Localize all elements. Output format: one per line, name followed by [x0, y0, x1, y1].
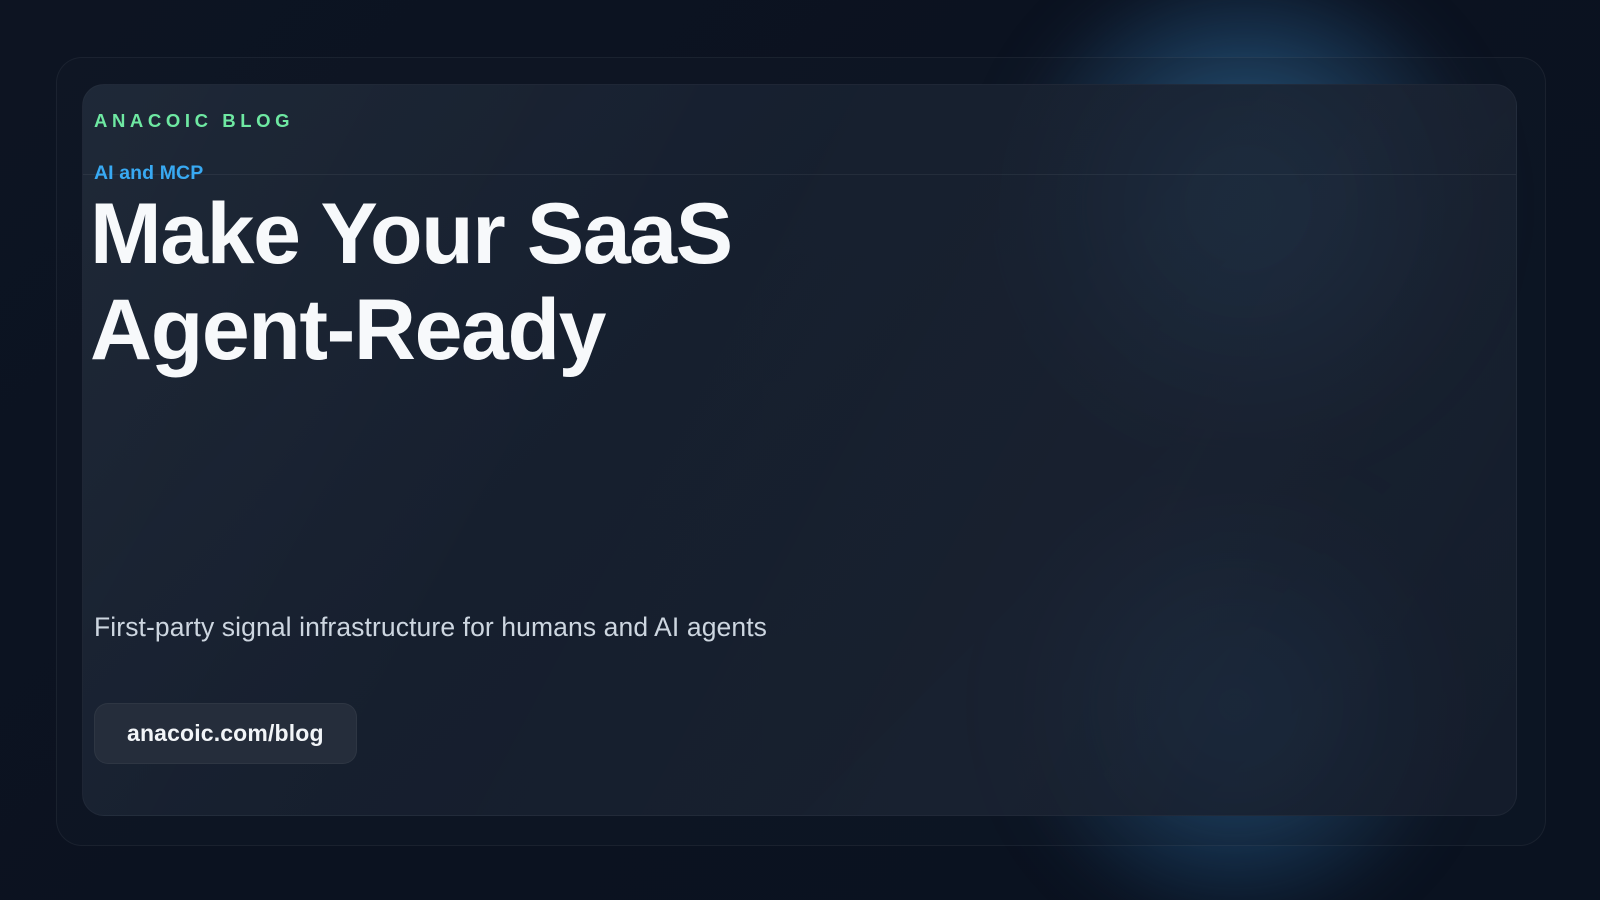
brand-eyebrow: ANACOIC BLOG — [94, 110, 294, 132]
blog-promo-card: ANACOIC BLOG AI and MCP Make Your SaaS A… — [82, 84, 1517, 816]
subtitle-text: First-party signal infrastructure for hu… — [94, 612, 767, 643]
card-content: ANACOIC BLOG AI and MCP Make Your SaaS A… — [94, 85, 1054, 815]
page-title: Make Your SaaS Agent-Ready — [90, 186, 910, 379]
category-label[interactable]: AI and MCP — [94, 162, 203, 185]
url-pill-button[interactable]: anacoic.com/blog — [94, 703, 357, 764]
